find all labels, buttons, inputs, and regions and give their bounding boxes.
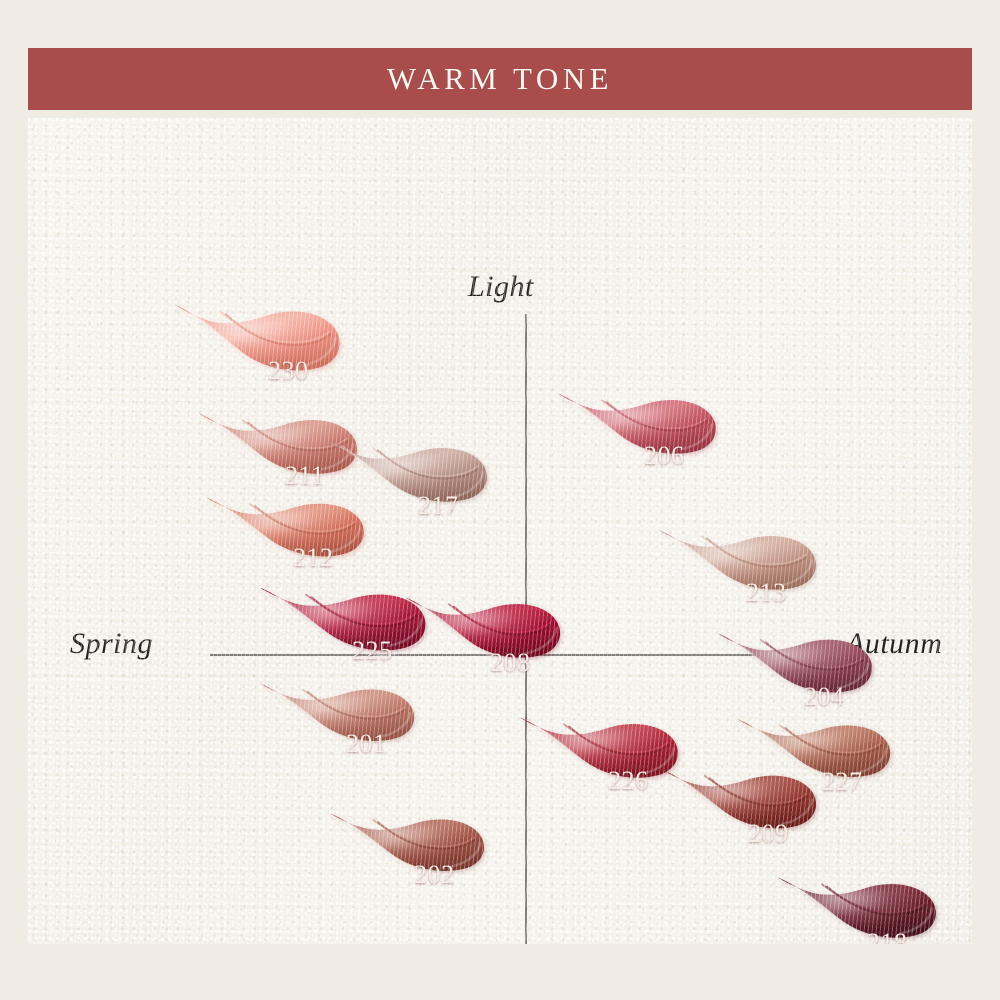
page-title: WARM TONE xyxy=(387,61,613,97)
lipstick-swatch: 202 xyxy=(324,806,492,902)
axis-label-spring: Spring xyxy=(70,627,153,661)
axis-label-light: Light xyxy=(468,270,534,304)
tone-map-canvas: Light Dark Spring Autunm 230211217212225… xyxy=(28,118,972,944)
lipstick-swatch: 213 xyxy=(652,522,824,622)
swatch-shape xyxy=(400,590,568,690)
swatch-shape xyxy=(168,296,348,406)
swatch-shape xyxy=(772,870,944,944)
swatch-shape xyxy=(656,762,824,860)
lipstick-swatch: 208 xyxy=(400,590,568,690)
lipstick-swatch: 201 xyxy=(254,676,422,772)
swatch-shape xyxy=(324,806,492,902)
swatch-shape xyxy=(254,676,422,772)
swatch-shape xyxy=(552,386,724,486)
warm-tone-banner: WARM TONE xyxy=(28,48,972,110)
lipstick-swatch: 209 xyxy=(656,762,824,860)
lipstick-swatch: 204 xyxy=(712,626,880,724)
swatch-shape xyxy=(200,490,372,588)
lipstick-swatch: 218 xyxy=(772,870,944,944)
lipstick-swatch: 206 xyxy=(552,386,724,486)
swatch-shape xyxy=(712,626,880,724)
swatch-shape xyxy=(652,522,824,622)
lipstick-swatch: 212 xyxy=(200,490,372,588)
tone-map-page: WARM TONE Light Dark Spring Autunm 23021… xyxy=(0,0,1000,1000)
lipstick-swatch: 230 xyxy=(168,296,348,406)
